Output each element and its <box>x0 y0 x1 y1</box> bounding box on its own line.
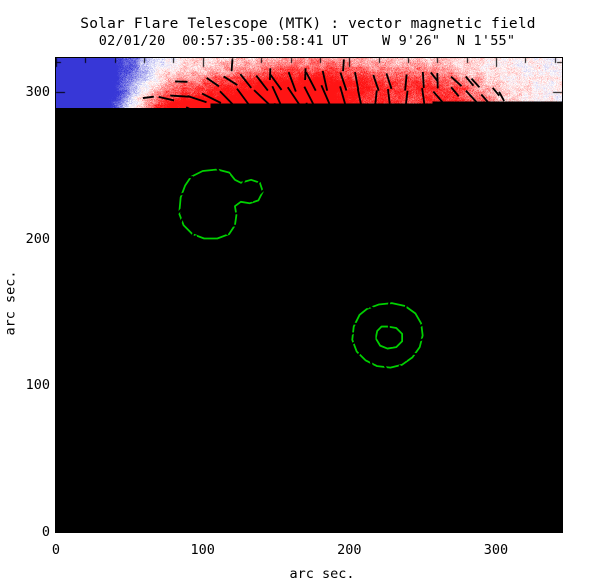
figure-title: Solar Flare Telescope (MTK) : vector mag… <box>0 17 612 32</box>
figure-subtitle: 02/01/20 00:57:35-00:58:41 UT W 9'26" N … <box>0 35 612 49</box>
x-tick-label: 100 <box>190 542 214 558</box>
plot-area <box>56 58 562 532</box>
y-tick-label: 100 <box>8 377 50 393</box>
y-tick-label: 0 <box>8 524 50 540</box>
y-tick-label: 300 <box>8 84 50 100</box>
y-tick-label: 200 <box>8 231 50 247</box>
magnetogram-figure: Solar Flare Telescope (MTK) : vector mag… <box>0 0 612 585</box>
y-axis-title: arc sec. <box>3 270 19 335</box>
magnetogram-image <box>56 58 562 532</box>
figure-title-block: Solar Flare Telescope (MTK) : vector mag… <box>0 17 612 48</box>
x-tick-label: 300 <box>484 542 508 558</box>
x-axis-title: arc sec. <box>0 566 612 582</box>
x-tick-label: 0 <box>52 542 60 558</box>
x-tick-label: 200 <box>337 542 361 558</box>
